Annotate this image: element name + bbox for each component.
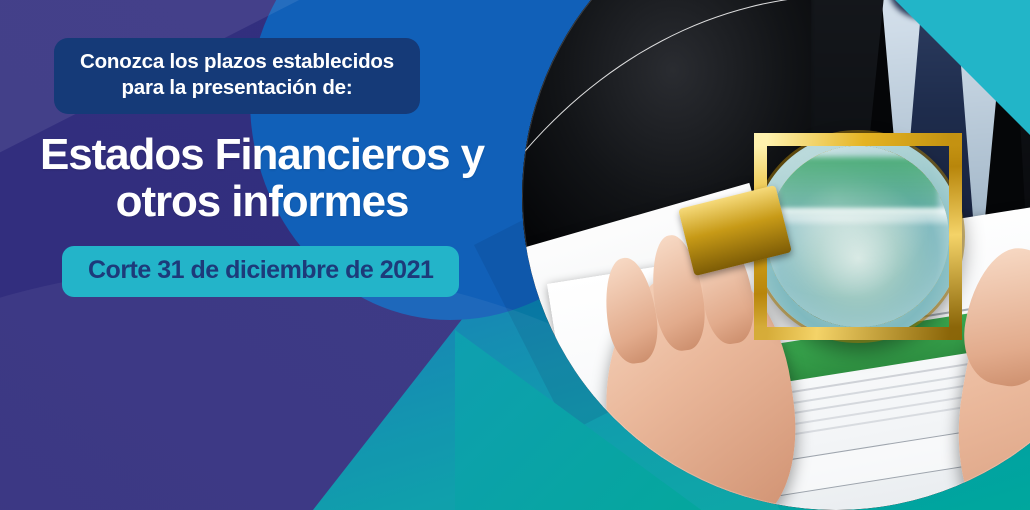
chart-bar (684, 265, 710, 269)
magnified-green-area (778, 157, 937, 215)
page-title: Estados Financieros y otros informes (0, 132, 530, 225)
headline-line-1: Estados Financieros y (40, 130, 484, 179)
finger (645, 232, 710, 354)
chart-bar (845, 240, 871, 244)
suit-lapel-left (811, 0, 899, 265)
finger (599, 255, 662, 366)
date-badge: Corte 31 de diciembre de 2021 (62, 246, 459, 297)
text-content-stack: Conozca los plazos establecidos para la … (0, 0, 530, 510)
chart-bar (748, 255, 774, 259)
document-rule (770, 377, 1030, 439)
photo-circle-mask (522, 0, 1030, 510)
kicker-line-2: para la presentación de: (80, 75, 394, 101)
document-rule (768, 371, 1030, 429)
chart-bar (780, 250, 806, 254)
finger (956, 241, 1030, 393)
promotional-banner: Conozca los plazos establecidos para la … (0, 0, 1030, 510)
headline-line-2: otros informes (16, 179, 508, 226)
lens-highlight (758, 208, 957, 224)
document-rule (766, 354, 1030, 418)
document-green-header (755, 282, 1030, 386)
left-hand (586, 253, 809, 510)
document-back-sheet (522, 183, 833, 510)
magnifying-glass (754, 133, 961, 340)
document-rule (755, 278, 1030, 343)
chart-bar (877, 235, 903, 239)
chart-bar (716, 260, 742, 264)
document-rule (765, 347, 1030, 408)
document-rule (763, 334, 1030, 397)
magnifier-handle (678, 185, 792, 276)
right-hand (936, 230, 1030, 510)
kicker-line-1: Conozca los plazos establecidos (80, 50, 394, 73)
magnifier-gold-ring (754, 133, 961, 340)
document-bar-chart-top (684, 224, 980, 349)
chart-bar (941, 224, 967, 228)
kicker-badge: Conozca los plazos establecidos para la … (54, 38, 420, 114)
chart-bar (812, 245, 838, 249)
chart-bar (909, 230, 935, 234)
finger (695, 236, 758, 347)
